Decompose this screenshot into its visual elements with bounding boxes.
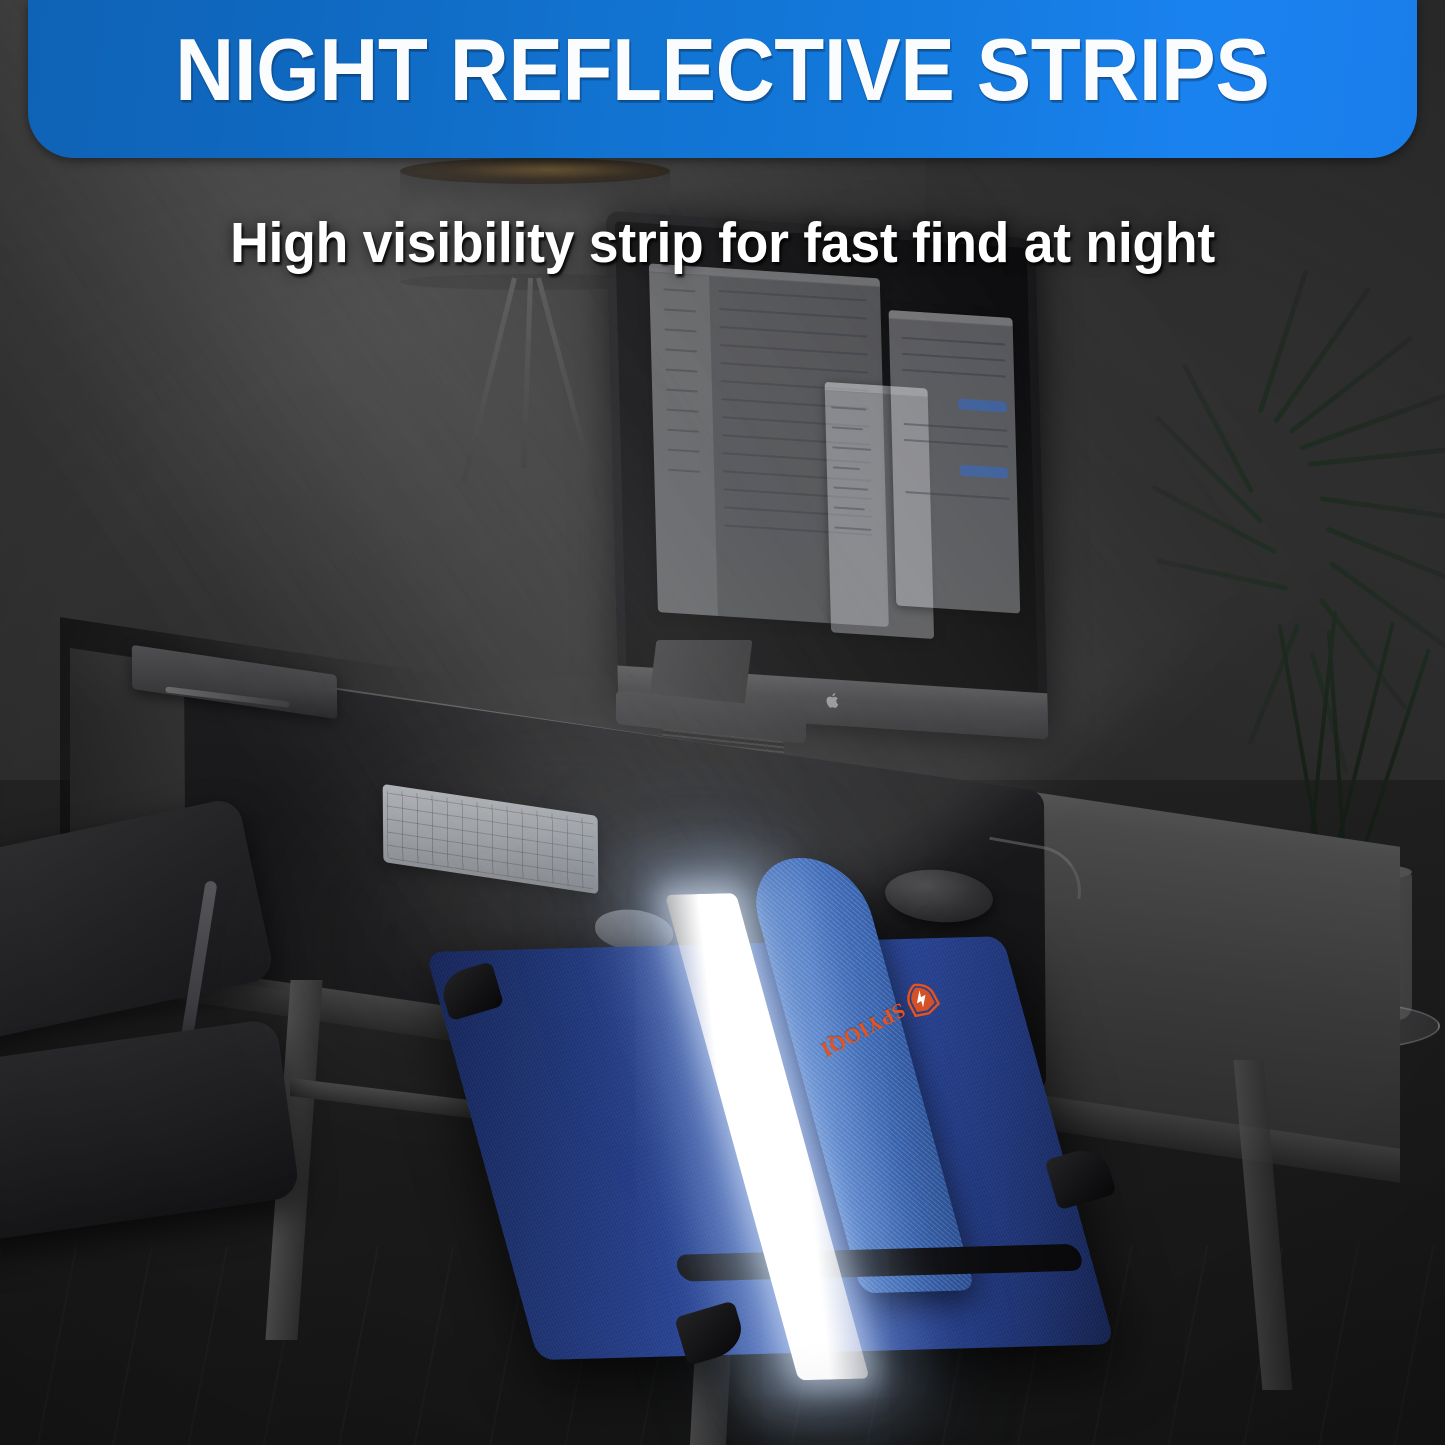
monitor-screen [615,221,1039,695]
headline-banner: NIGHT REFLECTIVE STRIPS [28,0,1417,158]
laptop-sleeve-product [428,851,1263,1378]
window-sidebar [649,273,718,616]
apple-logo-icon [825,691,840,710]
product-marketing-image: SPYIOQI NIGHT REFLECTIVE STRIPS High vis… [0,0,1445,1445]
subtitle-text: High visibility strip for fast find at n… [43,214,1401,274]
window-title-bar [888,310,1012,327]
app-window [888,310,1019,613]
headline-title: NIGHT REFLECTIVE STRIPS [175,26,1269,132]
